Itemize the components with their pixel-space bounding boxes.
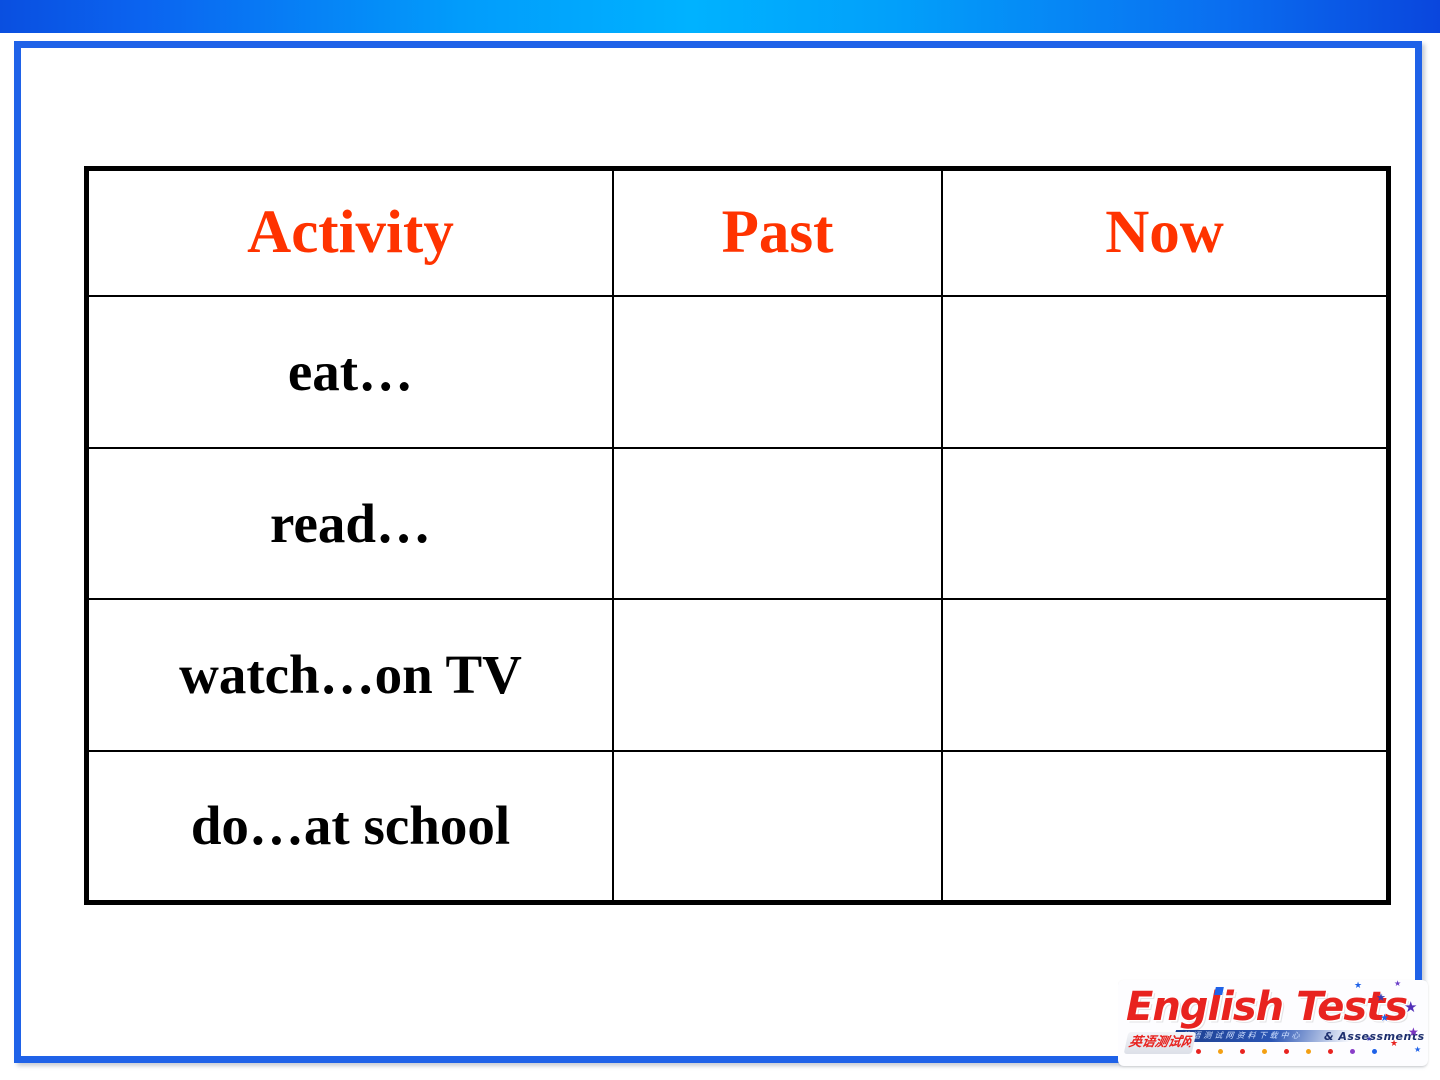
cell-past-3[interactable] <box>613 599 942 751</box>
logo-star-icon: ★ <box>1366 1036 1372 1043</box>
english-tests-logo: English Tests 英语测试网资料下载中心 英语测试网 & Assess… <box>1118 978 1434 1076</box>
cell-past-4[interactable] <box>613 751 942 903</box>
cell-now-1[interactable] <box>942 296 1389 448</box>
activity-comparison-table: Activity Past Now eat… read… watch…on TV <box>84 166 1391 905</box>
top-gradient-banner <box>0 0 1440 33</box>
slide-canvas: Activity Past Now eat… read… watch…on TV <box>0 0 1440 1080</box>
logo-star-icon: ★ <box>1354 982 1362 991</box>
cell-past-1[interactable] <box>613 296 942 448</box>
logo-dot-icon <box>1240 1049 1245 1054</box>
column-header-now: Now <box>942 169 1389 297</box>
logo-dot-icon <box>1372 1049 1377 1054</box>
logo-dot-icon <box>1328 1049 1333 1054</box>
table-row: read… <box>87 448 1389 600</box>
logo-star-icon: ★ <box>1414 1046 1421 1054</box>
cell-now-3[interactable] <box>942 599 1389 751</box>
cell-activity-1: eat… <box>87 296 614 448</box>
logo-i-dot-icon <box>1214 987 1224 995</box>
cell-activity-2: read… <box>87 448 614 600</box>
cell-past-2[interactable] <box>613 448 942 600</box>
logo-dot-icon <box>1196 1049 1201 1054</box>
table-row: eat… <box>87 296 1389 448</box>
logo-dot-icon <box>1350 1049 1355 1054</box>
logo-star-icon: ★ <box>1376 992 1386 1003</box>
logo-ribbon-text: 英语测试网资料下载中心 <box>1180 1030 1314 1042</box>
table-row: watch…on TV <box>87 599 1389 751</box>
logo-wordmark-text: English Tests <box>1126 984 1406 1032</box>
logo-star-icon: ★ <box>1408 1026 1419 1038</box>
logo-dot-icon <box>1284 1049 1289 1054</box>
logo-star-icon: ★ <box>1404 1000 1417 1015</box>
column-header-past: Past <box>613 169 942 297</box>
table-header-row: Activity Past Now <box>87 169 1389 297</box>
logo-dot-row <box>1196 1048 1386 1056</box>
cell-activity-3: watch…on TV <box>87 599 614 751</box>
logo-tab-text: 英语测试网 <box>1127 1034 1193 1052</box>
cell-activity-4: do…at school <box>87 751 614 903</box>
table-row: do…at school <box>87 751 1389 903</box>
cell-now-4[interactable] <box>942 751 1389 903</box>
logo-star-icon: ★ <box>1380 1014 1389 1024</box>
logo-star-icon: ★ <box>1394 980 1401 988</box>
logo-dot-icon <box>1306 1049 1311 1054</box>
column-header-activity: Activity <box>87 169 614 297</box>
logo-dot-icon <box>1218 1049 1223 1054</box>
logo-star-icon: ★ <box>1390 1040 1398 1049</box>
cell-now-2[interactable] <box>942 448 1389 600</box>
logo-dot-icon <box>1262 1049 1267 1054</box>
